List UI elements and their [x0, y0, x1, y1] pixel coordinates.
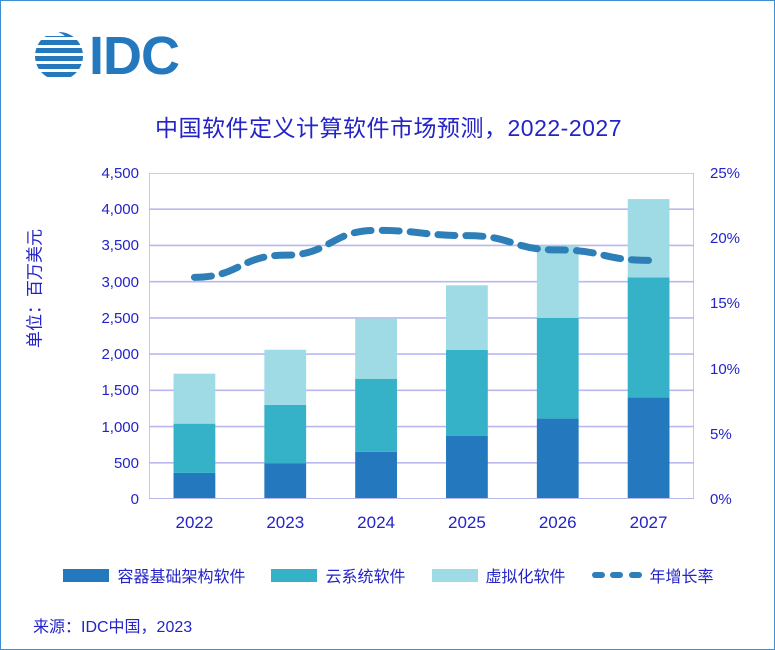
left-axis-tick-label: 0	[77, 492, 139, 507]
left-axis-tick-label: 500	[77, 456, 139, 471]
axis-lines	[149, 173, 694, 499]
bar-segment[interactable]	[628, 398, 670, 499]
x-axis-tick-label: 2027	[603, 513, 694, 533]
legend-label: 虚拟化软件	[486, 563, 566, 587]
left-axis-tick-label: 1,500	[77, 383, 139, 398]
bar-segment[interactable]	[355, 452, 397, 499]
bar-segment[interactable]	[355, 319, 397, 379]
legend-dashed-line-icon	[592, 569, 642, 582]
legend-item[interactable]: 容器基础架构软件	[63, 563, 245, 587]
right-axis-tick-label: 20%	[710, 231, 772, 246]
left-axis-tick-label: 3,500	[77, 238, 139, 253]
bar-segment[interactable]	[264, 405, 306, 464]
legend-label: 云系统软件	[325, 563, 405, 587]
legend-swatch-icon	[63, 569, 109, 582]
legend-label: 容器基础架构软件	[117, 563, 245, 587]
bar-segment[interactable]	[446, 436, 488, 499]
x-axis-tick-label: 2024	[331, 513, 422, 533]
y-axis-title: 单位：百万美元	[21, 189, 46, 389]
globe-icon	[31, 30, 87, 82]
left-axis-tick-label: 4,500	[77, 166, 139, 181]
legend-label: 年增长率	[650, 563, 714, 587]
bar-segment[interactable]	[264, 350, 306, 405]
x-axis-tick-label: 2025	[421, 513, 512, 533]
right-axis-tick-label: 25%	[710, 166, 772, 181]
right-axis-tick-label: 0%	[710, 492, 772, 507]
bar-segment[interactable]	[446, 350, 488, 436]
source-note: 来源：IDC中国，2023	[33, 613, 192, 637]
chart-legend: 容器基础架构软件云系统软件虚拟化软件年增长率	[1, 563, 775, 587]
left-axis-tick-label: 4,000	[77, 202, 139, 217]
bar-segment[interactable]	[628, 199, 670, 277]
bar-segment[interactable]	[174, 374, 216, 424]
bar-segment[interactable]	[537, 245, 579, 317]
bar-segment[interactable]	[174, 424, 216, 473]
bar-segment[interactable]	[537, 318, 579, 419]
left-axis-tick-label: 1,000	[77, 420, 139, 435]
gridlines	[149, 173, 694, 499]
growth-rate-path[interactable]	[194, 230, 648, 277]
legend-item[interactable]: 虚拟化软件	[432, 563, 566, 587]
x-axis-ticks: 202220232024202520262027	[149, 513, 694, 533]
growth-rate-line	[194, 230, 648, 277]
left-axis-tick-label: 2,000	[77, 347, 139, 362]
chart-page: IDC 中国软件定义计算软件市场预测，2022-2027 单位：百万美元 4,5…	[0, 0, 775, 650]
idc-logo: IDC	[31, 27, 179, 85]
idc-logo-text: IDC	[89, 29, 179, 83]
x-axis-tick-label: 2026	[512, 513, 603, 533]
left-axis-tick-label: 3,000	[77, 275, 139, 290]
bar-segment[interactable]	[355, 379, 397, 452]
bar-series-group	[174, 199, 670, 499]
chart-canvas	[149, 173, 694, 499]
legend-swatch-icon	[432, 569, 478, 582]
x-axis-tick-label: 2022	[149, 513, 240, 533]
legend-swatch-icon	[271, 569, 317, 582]
right-axis-tick-label: 10%	[710, 362, 772, 377]
bar-segment[interactable]	[628, 277, 670, 397]
legend-item[interactable]: 云系统软件	[271, 563, 405, 587]
plot-area	[149, 173, 694, 499]
page-title: 中国软件定义计算软件市场预测，2022-2027	[1, 109, 775, 143]
bar-segment[interactable]	[264, 464, 306, 499]
bar-segment[interactable]	[446, 285, 488, 349]
right-axis-tick-label: 5%	[710, 427, 772, 442]
right-axis-tick-label: 15%	[710, 296, 772, 311]
bar-segment[interactable]	[174, 473, 216, 499]
x-axis-tick-label: 2023	[240, 513, 331, 533]
bar-segment[interactable]	[537, 419, 579, 499]
left-axis-tick-label: 2,500	[77, 311, 139, 326]
legend-item[interactable]: 年增长率	[592, 563, 714, 587]
